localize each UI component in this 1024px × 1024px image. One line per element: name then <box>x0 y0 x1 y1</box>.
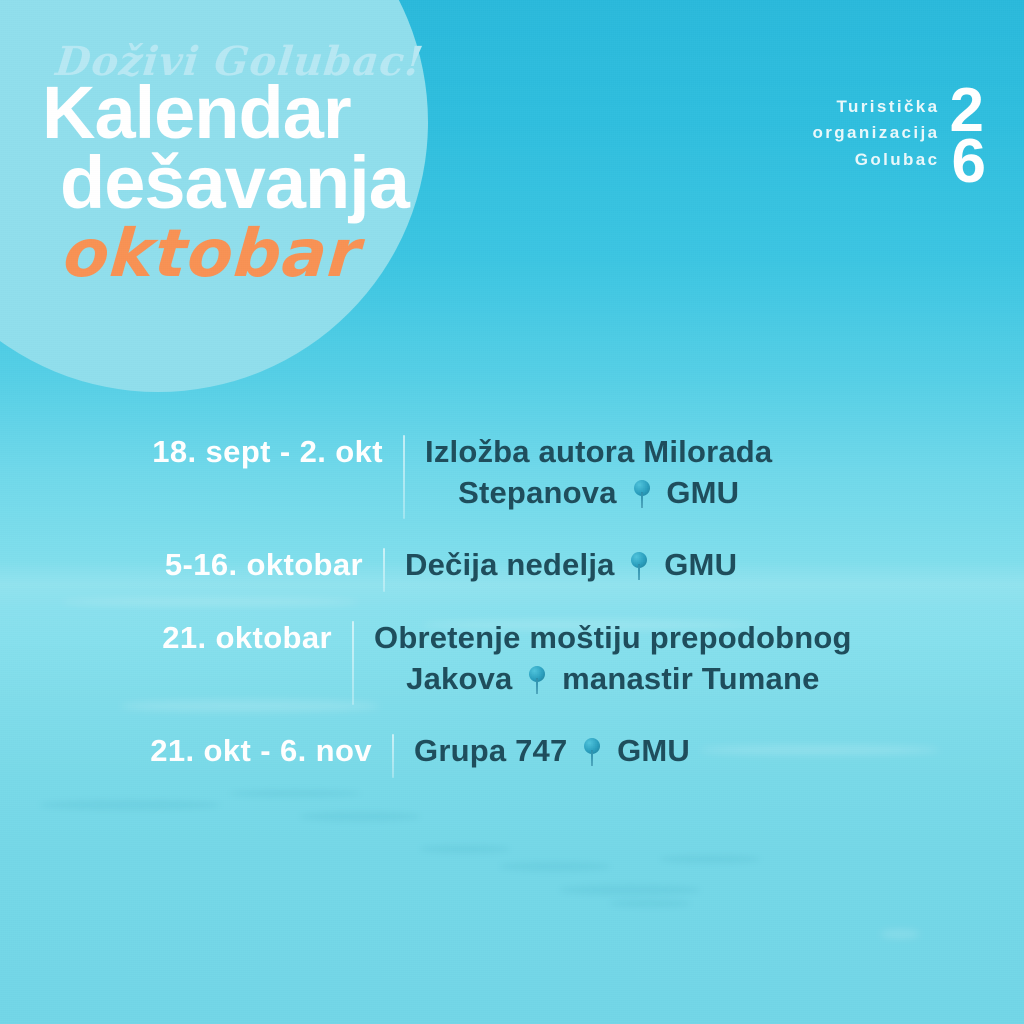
water-ripple <box>660 855 760 863</box>
page-title: Kalendar dešavanja <box>42 78 602 219</box>
list-item: 18. sept - 2. okt Izložba autora Milorad… <box>0 432 1024 519</box>
event-title-text: Dečija nedelja <box>405 547 615 582</box>
water-ripple <box>420 845 510 853</box>
month-title: oktobar <box>61 221 605 287</box>
event-location: GMU <box>617 733 690 768</box>
event-title-cont: Jakova <box>406 661 512 696</box>
water-highlight <box>880 930 920 938</box>
event-date: 5-16. oktobar <box>0 545 383 586</box>
water-ripple <box>560 885 700 895</box>
event-date: 18. sept - 2. okt <box>0 432 403 473</box>
event-location: GMU <box>666 475 739 510</box>
event-title-line-2: Jakova manastir Tumane <box>374 659 852 700</box>
list-item: 5-16. oktobar Dečija nedelja GMU <box>0 545 1024 592</box>
logo-number-bottom: 6 <box>952 137 984 188</box>
tagline: Doživi Golubac! <box>54 42 604 82</box>
map-pin-icon <box>632 479 652 509</box>
event-title-line-1: Obretenje moštiju prepodobnog <box>374 618 852 659</box>
list-item: 21. oktobar Obretenje moštiju prepodobno… <box>0 618 1024 705</box>
water-ripple <box>500 862 610 871</box>
title-line-2: dešavanja <box>60 148 602 218</box>
logo-text: Turistička organizacija Golubac <box>812 86 939 173</box>
organization-logo: Turistička organizacija Golubac 2 6 <box>812 86 984 188</box>
logo-line-3: Golubac <box>812 147 939 173</box>
poster-header: Doživi Golubac! Kalendar dešavanja oktob… <box>42 42 602 287</box>
logo-line-2: organizacija <box>812 120 939 146</box>
water-ripple <box>300 812 420 821</box>
event-description: Grupa 747 GMU <box>394 731 690 772</box>
logo-line-1: Turistička <box>812 94 939 120</box>
event-title-line-1: Izložba autora Milorada <box>425 432 772 473</box>
event-title-cont: Stepanova <box>458 475 617 510</box>
event-title-text: Grupa 747 <box>414 733 567 768</box>
event-location: GMU <box>664 547 737 582</box>
event-description: Izložba autora Milorada Stepanova GMU <box>405 432 772 514</box>
event-calendar-poster: Doživi Golubac! Kalendar dešavanja oktob… <box>0 0 1024 1024</box>
event-title-line-1: Grupa 747 GMU <box>414 731 690 772</box>
map-pin-icon <box>582 737 602 767</box>
event-title-line-1: Dečija nedelja GMU <box>405 545 737 586</box>
water-ripple <box>610 900 690 907</box>
event-description: Obretenje moštiju prepodobnog Jakova man… <box>354 618 852 700</box>
events-list: 18. sept - 2. okt Izložba autora Milorad… <box>0 432 1024 804</box>
event-description: Dečija nedelja GMU <box>385 545 737 586</box>
event-location: manastir Tumane <box>562 661 819 696</box>
event-title-line-2: Stepanova GMU <box>425 473 772 514</box>
event-date: 21. okt - 6. nov <box>0 731 392 772</box>
map-pin-icon <box>629 551 649 581</box>
list-item: 21. okt - 6. nov Grupa 747 GMU <box>0 731 1024 778</box>
logo-numbers: 2 6 <box>950 86 984 188</box>
map-pin-icon <box>527 665 547 695</box>
event-date: 21. oktobar <box>0 618 352 659</box>
